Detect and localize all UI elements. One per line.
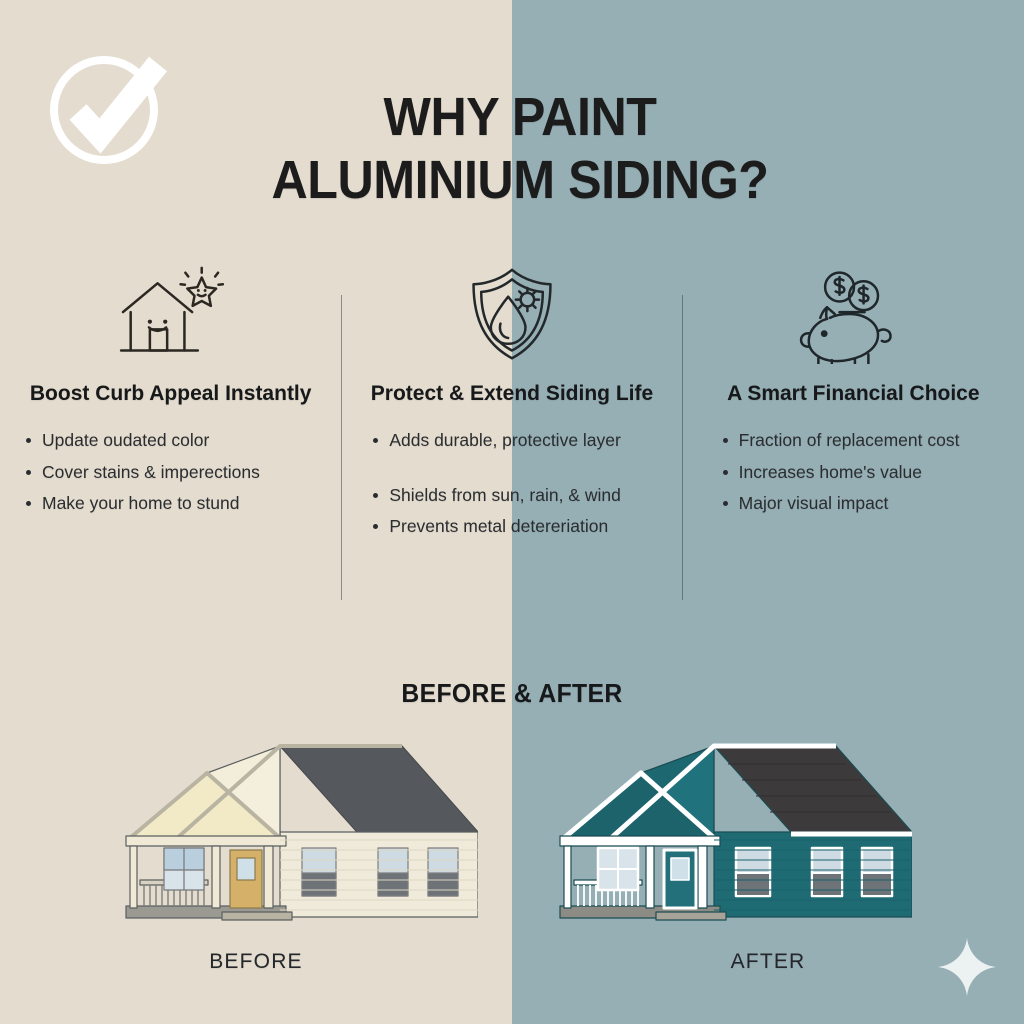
title-line-1: WHY PAINT [222, 86, 817, 149]
four-point-sparkle-icon [936, 936, 998, 998]
house-star-smile-icon [24, 262, 317, 366]
before-after-illustrations [0, 728, 1024, 928]
caption-before: BEFORE [0, 950, 512, 974]
benefit-heading: Boost Curb Appeal Instantly [24, 380, 317, 407]
infographic-canvas: WHY PAINT ALUMINIUM SIDING? [0, 0, 1024, 1024]
benefit-bullet-list: Adds durable, protective layer Shields f… [371, 427, 658, 540]
bullet-item: Increases home's value [721, 459, 1000, 486]
circle-check-icon [38, 36, 178, 176]
benefit-column-curb-appeal: Boost Curb Appeal Instantly Update oudat… [0, 262, 341, 607]
before-after-section-title: BEFORE & AFTER [26, 678, 999, 709]
before-after-captions: BEFORE AFTER [0, 950, 1024, 974]
bullet-item: Make your home to stund [24, 490, 317, 517]
bullet-item: Cover stains & imperections [24, 459, 317, 486]
piggy-bank-coins-icon [707, 262, 1000, 366]
page-title: WHY PAINT ALUMINIUM SIDING? [222, 86, 817, 211]
bullet-item: Prevents metal detereriation [371, 513, 658, 540]
benefit-bullet-list: Update oudated color Cover stains & impe… [24, 427, 317, 517]
house-illustration-before [112, 728, 478, 931]
bullet-item: Adds durable, protective layer [371, 427, 658, 454]
benefit-column-protection: Protect & Extend Siding Life Adds durabl… [341, 262, 682, 607]
bullet-item: Update oudated color [24, 427, 317, 454]
bullet-item: Shields from sun, rain, & wind [371, 482, 658, 509]
benefit-bullet-list: Fraction of replacement cost Increases h… [721, 427, 1000, 517]
benefit-columns: Boost Curb Appeal Instantly Update oudat… [0, 262, 1024, 607]
benefit-heading: A Smart Financial Choice [707, 380, 1000, 407]
benefit-heading: Protect & Extend Siding Life [365, 380, 658, 407]
title-line-2: ALUMINIUM SIDING? [222, 149, 817, 212]
shield-droplet-sun-icon [365, 262, 658, 366]
house-illustration-after [546, 728, 912, 931]
bullet-item: Fraction of replacement cost [721, 427, 1000, 454]
bullet-item: Major visual impact [721, 490, 1000, 517]
benefit-column-financial: A Smart Financial Choice Fraction of rep… [683, 262, 1024, 607]
